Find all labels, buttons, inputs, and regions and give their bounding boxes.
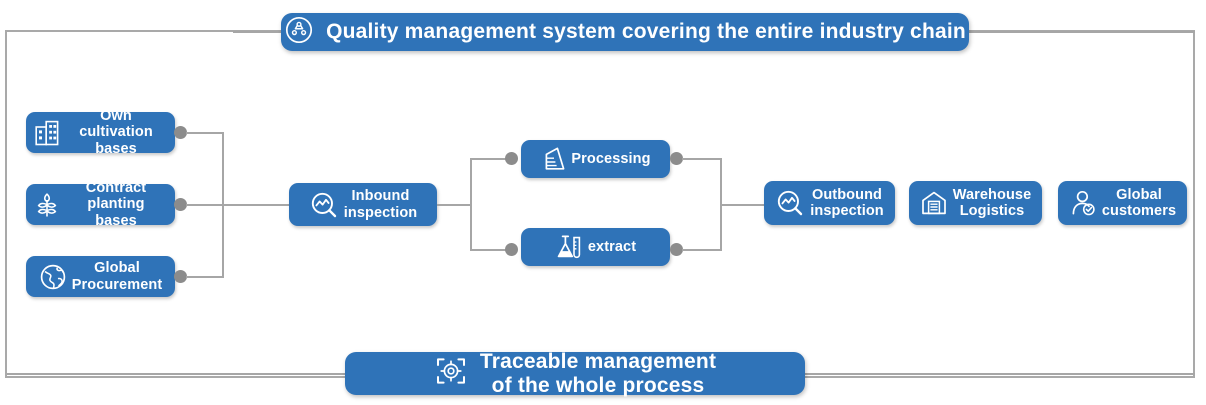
node-global-customers[interactable]: Global customers: [1058, 181, 1187, 225]
footer-banner-text: Traceable management of the whole proces…: [480, 350, 716, 396]
scan-target-icon: [434, 354, 468, 393]
footer-banner: Traceable management of the whole proces…: [345, 352, 805, 395]
warehouse-icon: [920, 189, 948, 217]
banner-top-right-connector: [967, 31, 1195, 33]
node-contract-planting-bases[interactable]: Contract planting bases: [26, 184, 175, 225]
node-label: Processing: [571, 151, 650, 167]
customer-check-icon: [1069, 189, 1097, 217]
title-banner: Quality management system covering the e…: [281, 13, 969, 51]
recycle-circle-icon: [284, 15, 314, 50]
building-icon: [34, 119, 60, 147]
connector-global-procurement-stub: [186, 276, 224, 278]
flask-icon: [555, 233, 583, 261]
globe-icon: [39, 263, 67, 291]
node-outbound-inspection[interactable]: Outbound inspection: [764, 181, 895, 225]
connector-contract-stub: [186, 204, 289, 206]
node-label: extract: [588, 239, 636, 255]
node-global-procurement[interactable]: Global Procurement: [26, 256, 175, 297]
diagram-canvas: Quality management system covering the e…: [0, 0, 1206, 405]
connector-dot-processing-in: [505, 152, 518, 165]
connector-processing-out-stub: [682, 158, 722, 160]
node-extract[interactable]: extract: [521, 228, 670, 266]
title-banner-text: Quality management system covering the e…: [326, 20, 966, 43]
inspection-magnifier-icon: [775, 188, 805, 218]
node-label: Outbound inspection: [810, 187, 884, 219]
connector-left-spine: [222, 132, 224, 278]
node-label: Own cultivation bases: [65, 108, 167, 157]
node-inbound-inspection[interactable]: Inbound inspection: [289, 183, 437, 226]
node-own-cultivation-bases[interactable]: Own cultivation bases: [26, 112, 175, 153]
connector-extract-out-stub: [682, 249, 722, 251]
connector-dot-extract-in: [505, 243, 518, 256]
connector-inbound-trunk: [437, 204, 472, 206]
factory-icon: [540, 145, 566, 173]
node-warehouse-logistics[interactable]: Warehouse Logistics: [909, 181, 1042, 225]
banner-bottom-left-connector: [7, 373, 346, 375]
node-label: Warehouse Logistics: [953, 187, 1032, 219]
banner-top-left-connector: [233, 31, 283, 33]
connector-outbound-trunk: [720, 204, 765, 206]
node-processing[interactable]: Processing: [521, 140, 670, 178]
sprout-icon: [34, 191, 60, 219]
banner-bottom-right-connector: [804, 373, 1195, 375]
node-label: Contract planting bases: [65, 180, 167, 229]
node-label: Inbound inspection: [344, 188, 418, 220]
node-label: Global Procurement: [72, 260, 163, 292]
connector-own-stub: [186, 132, 224, 134]
node-label: Global customers: [1102, 187, 1176, 219]
connector-fork-spine: [470, 159, 472, 251]
inspection-magnifier-icon: [309, 190, 339, 220]
